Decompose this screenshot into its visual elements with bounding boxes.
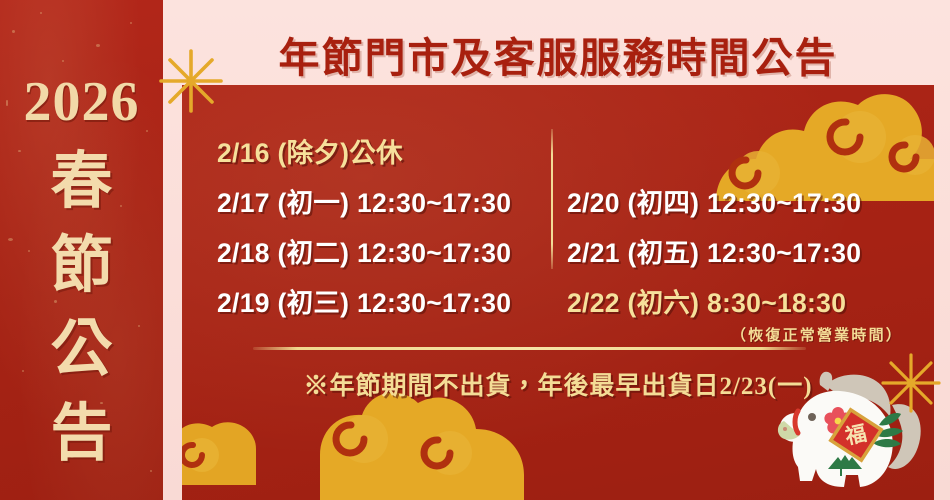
vertical-title-char-1: 春 <box>0 140 163 224</box>
schedule-column-left: 2/16 (除夕)公休 2/17 (初一) 12:30~17:30 2/18 (… <box>217 128 557 328</box>
page-title: 年節門市及客服服務時間公告 <box>182 24 934 84</box>
schedule-row: 2/18 (初二) 12:30~17:30 <box>217 228 557 278</box>
fu-charm-text: 福 <box>842 421 869 449</box>
section-divider-horizontal <box>253 347 806 350</box>
vertical-title: 春 節 公 告 <box>0 140 163 476</box>
schedule-block: 2/16 (除夕)公休 2/17 (初一) 12:30~17:30 2/18 (… <box>182 128 934 328</box>
shipping-note: ※年節期間不出貨，年後最早出貨日2/23(一) <box>182 366 934 402</box>
left-red-band: 2026 春 節 公 告 <box>0 0 163 500</box>
cloud-decoration-bottom-left-small <box>182 415 262 490</box>
vertical-title-char-3: 公 <box>0 308 163 392</box>
spring-festival-announcement-banner: 2026 春 節 公 告 <box>0 0 950 500</box>
schedule-row: 2/20 (初四) 12:30~17:30 <box>567 178 907 228</box>
schedule-row: 2/17 (初一) 12:30~17:30 <box>217 178 557 228</box>
schedule-row: 2/22 (初六) 8:30~18:30 <box>567 278 907 328</box>
year-label: 2026 <box>0 74 163 130</box>
vertical-title-char-4: 告 <box>0 392 163 476</box>
schedule-column-right: 2/20 (初四) 12:30~17:30 2/21 (初五) 12:30~17… <box>567 128 907 345</box>
schedule-row: 2/16 (除夕)公休 <box>217 128 557 178</box>
vertical-title-char-2: 節 <box>0 224 163 308</box>
schedule-row: 2/19 (初三) 12:30~17:30 <box>217 278 557 328</box>
schedule-row: 2/21 (初五) 12:30~17:30 <box>567 228 907 278</box>
